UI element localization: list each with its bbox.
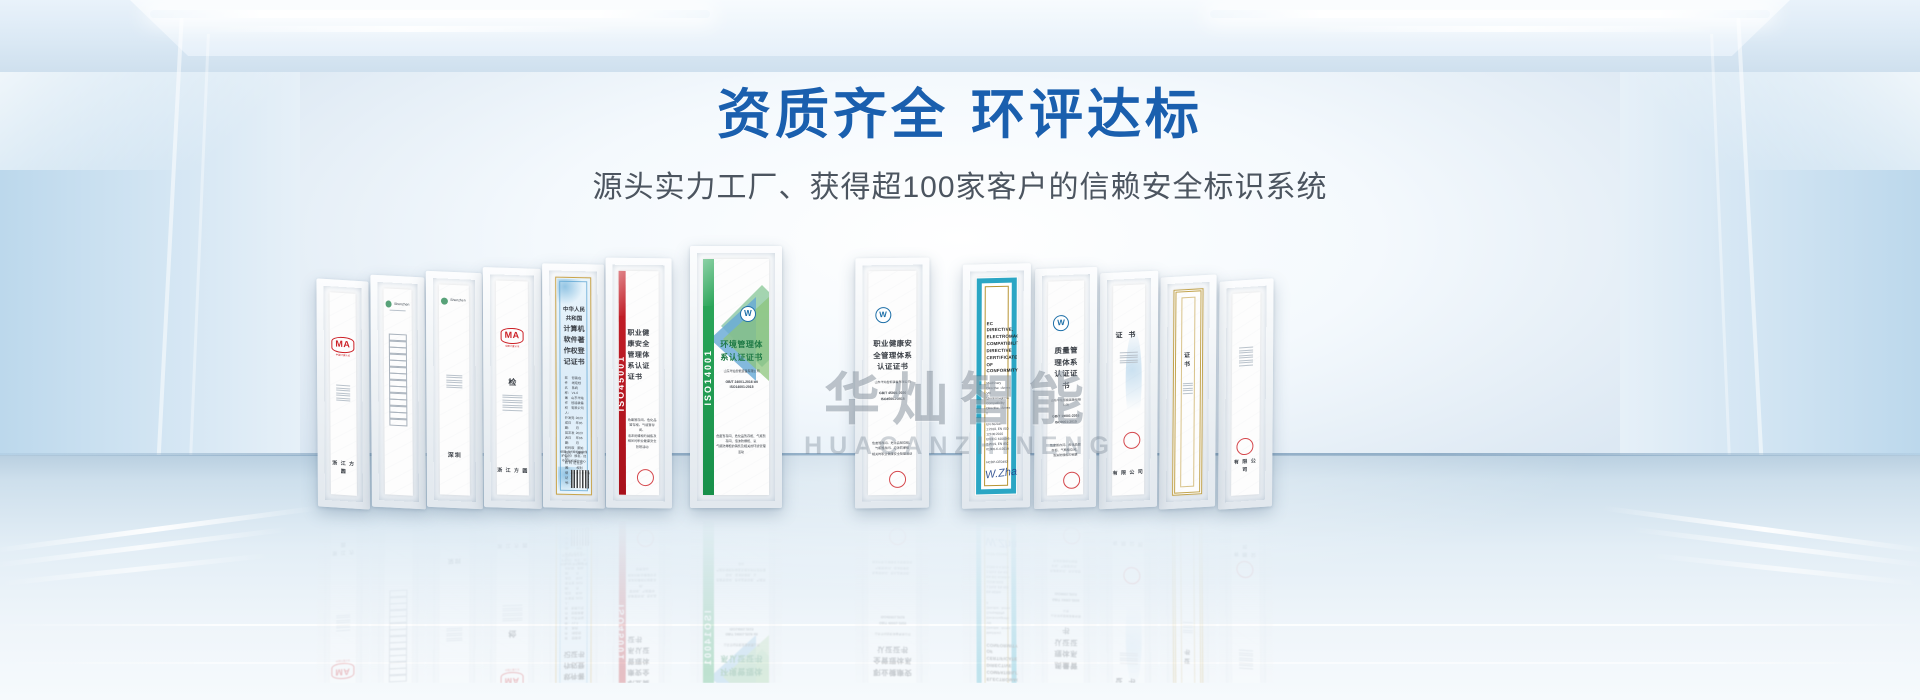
page-title-part-2: 环评达标: [971, 85, 1203, 145]
document-scope: 危废暂存间、危化品暂存柜、气瓶暂存间、泡沫防爆柜相关的职业健康安全管理活动: [871, 559, 912, 575]
certificate-document: Shenzhen: [383, 288, 412, 495]
company-name: 山东华灿智能装备有限公司: [1050, 608, 1081, 618]
document-body: 职业健康安全管理体系认证证书 山东华灿智能装备有限公司 GB/T 45001-2…: [872, 338, 913, 402]
document-body: 检: [498, 603, 526, 639]
document-footer: 浙 江 方 圆: [331, 538, 357, 555]
document-rule-line: [502, 615, 522, 617]
certificate-mat: Shenzhen 深圳: [433, 514, 476, 683]
certificate-frame[interactable]: W 质量管理体系认证证书 山东华灿智能装备有限公司 GB/T 19001-201…: [1034, 267, 1097, 509]
document-body: [442, 373, 466, 391]
document-body: 证 书: [1179, 352, 1197, 396]
document-field-value: 2023年06月: [576, 570, 584, 585]
standard-reference: GB/T 24001-2016 idt ISO14001:2015: [718, 380, 766, 391]
certificate-document: 中华人民共和国 计算机软件著作权登记证书 软 件 名 称： 智能在线巡检系统 V…: [555, 521, 592, 683]
certificate-frame: 有 限 公 司: [1218, 508, 1274, 683]
document-body: [442, 626, 466, 644]
certificate-document: MA 中国计量认证 浙 江 方 圆: [329, 520, 356, 683]
document-rule-line: [446, 635, 462, 637]
document-rule-line: [1239, 668, 1253, 670]
issuer-logo-icon: [386, 301, 392, 308]
certificate-frame: 证 书: [1159, 508, 1217, 683]
document-annex-2: Electromagnetic Compatibility Directive …: [986, 600, 1011, 620]
document-rule-line: [1183, 632, 1192, 634]
certificate-frame[interactable]: 证 书 有 限 公 司: [1099, 271, 1158, 510]
company-name: 山东华灿智能装备有限公司: [872, 379, 913, 384]
certificate-document: MA 中国计量认证 检 浙 江 方 圆: [496, 280, 529, 495]
document-rule-line: [446, 387, 462, 389]
official-stamp-icon: [1123, 431, 1140, 449]
document-title-line-3: CERTIFICATE OF CONFORMITY: [986, 354, 1011, 375]
standard-reference: GB/T 45001-2020 ISO45001:2018: [872, 391, 913, 402]
certificate-mat: 中华人民共和国 计算机软件著作权登记证书 软 件 名 称： 智能在线巡检系统 V…: [549, 514, 598, 683]
document-rule-line: [336, 387, 351, 389]
issuer-name: Shenzhen: [394, 302, 409, 308]
certificate-wall: MA 中国计量认证 浙 江 方 圆 Shenzhen: [0, 228, 1920, 508]
document-body: 职业健康安全管理体系认证证书: [627, 632, 656, 683]
document-rule-line: [1183, 392, 1192, 394]
certificate-document: ISO14001 W 环境管理体系认证证书 山东华灿智能装备有限公司 GB/T …: [703, 521, 769, 683]
certificate-mat: W 职业健康安全管理体系认证证书 山东华灿智能装备有限公司 GB/T 45001…: [862, 265, 922, 502]
ceiling-notch-left: [200, 26, 620, 32]
document-body: 职业健康安全管理体系认证证书: [627, 329, 656, 384]
certificate-mat: W 职业健康安全管理体系认证证书 山东华灿智能装备有限公司 GB/T 45001…: [862, 515, 922, 683]
certificate-mat: Shenzhen: [377, 514, 419, 683]
document-rule-line: [446, 640, 462, 642]
document-rule-line: [446, 384, 462, 386]
document-rule-line: [502, 607, 522, 609]
ma-badge-label: MA: [331, 662, 354, 679]
certificate-frame[interactable]: Shenzhen 深圳: [426, 271, 483, 509]
certificate-document: 证 书 有 限 公 司: [1112, 284, 1145, 496]
certificate-document: Shenzhen: [383, 520, 412, 683]
ma-badge-sublabel: 中国计量认证: [501, 345, 524, 349]
document-footer: 有 限 公 司: [1112, 470, 1144, 479]
certificate-spine: ISO45001: [619, 271, 626, 495]
document-rule-line: [336, 390, 351, 392]
certificate-frame[interactable]: Shenzhen: [370, 275, 426, 510]
document-field-row: 软 件 名 称： 智能在线巡检系统 V1.0: [561, 376, 588, 396]
document-rule-line: [1119, 362, 1138, 364]
issuer-logo-icon: [441, 297, 448, 304]
document-rule-line: [446, 627, 462, 629]
document-title: 环境管理体系认证证书: [718, 339, 766, 364]
certificate-mat: W 质量管理体系认证证书 山东华灿智能装备有限公司 GB/T 19001-201…: [1041, 514, 1090, 683]
company-name: 山东华灿智能装备有限公司: [718, 369, 766, 374]
certificate-document: EC DIRECTIVE, ELECTROMAGNETIC COMPATIBIL…: [975, 276, 1018, 495]
ma-badge-sublabel: 中国计量认证: [331, 657, 354, 662]
certificate-document: EC DIRECTIVE, ELECTROMAGNETIC COMPATIBIL…: [975, 520, 1018, 683]
document-rule-line: [446, 382, 462, 384]
document-body: [332, 612, 355, 632]
document-footer: 浙 江 方 圆: [331, 461, 357, 478]
document-body: [1235, 345, 1258, 368]
document-field-value: 2023年05月: [576, 585, 584, 600]
document-rule-line: [502, 394, 522, 396]
certificate-document: Shenzhen 深圳: [439, 520, 470, 683]
certificate-document: W 质量管理体系认证证书 山东华灿智能装备有限公司 GB/T 19001-201…: [1047, 520, 1084, 683]
certificate-document: 中华人民共和国 计算机软件著作权登记证书 软 件 名 称： 智能在线巡检系统 V…: [555, 277, 592, 496]
document-rule-line: [336, 392, 351, 394]
certificate-document: MA 中国计量认证 检 浙 江 方 圆: [496, 520, 529, 683]
document-field-value: 2023年05月: [576, 416, 584, 431]
standard-reference: GB/T 45001-2020 ISO45001:2018: [872, 614, 913, 625]
document-body: 证 书: [1179, 620, 1197, 664]
certificate-mat: ISO14001 W 环境管理体系认证证书 山东华灿智能装备有限公司 GB/T …: [697, 515, 775, 683]
document-footer: 有 限 公 司: [1231, 540, 1259, 557]
document-field-row: 开发完成日期： 2023年05月: [561, 416, 588, 431]
company-name: 山东华灿智能装备有限公司: [1050, 398, 1081, 408]
document-title: 质量管理体系认证证书: [1050, 345, 1081, 392]
document-title: 职业健康安全管理体系认证证书: [627, 632, 656, 683]
page-title-part-1: 资质齐全: [717, 85, 949, 145]
document-scope: 危废暂存间、危化品暂存柜、气瓶暂存间、泡沫防爆柜相关的职业健康安全管理活动: [871, 441, 912, 457]
standard-reference: GB/T 19001-2016 ISO9001:2015: [1050, 414, 1081, 426]
document-title: 职业健康安全管理体系认证证书: [872, 338, 913, 373]
document-scope: 危废暂存间、危化品暂存柜、气瓶暂存间、泡沫防爆柜、氢气瓶防爆柜的销售及相关的环境…: [716, 561, 766, 582]
document-body: 证 书: [1115, 651, 1142, 683]
document-rule-line: [502, 402, 522, 404]
inspection-table: [389, 590, 408, 682]
document-field-row: 著 作 权 人： 山东华灿智能装备有限公司: [561, 600, 588, 620]
certificate-frame: EC DIRECTIVE, ELECTROMAGNETIC COMPATIBIL…: [962, 508, 1031, 683]
ma-badge-label: MA: [501, 672, 524, 683]
certificate-frame: ISO45001 职业健康安全管理体系认证证书 危废暂存间、危化品暂存柜、气瓶暂…: [606, 508, 672, 683]
certificate-mat: Shenzhen 深圳: [433, 278, 476, 502]
certificate-document: 证 书: [1172, 288, 1203, 496]
document-field-label: 软 件 名 称：: [565, 620, 572, 640]
document-footer: 深圳: [440, 554, 470, 565]
document-rule-line: [446, 632, 462, 634]
certificate-frame[interactable]: 证 书: [1159, 274, 1217, 509]
document-title: 质量管理体系认证证书: [1050, 624, 1081, 671]
certificate-frame: W 职业健康安全管理体系认证证书 山东华灿智能装备有限公司 GB/T 45001…: [855, 508, 929, 683]
document-footer: 浙 江 方 圆: [497, 467, 529, 476]
certificate-document: ISO14001 W 环境管理体系认证证书 山东华灿智能装备有限公司 GB/T …: [703, 259, 769, 495]
issuer-line: Shenzhen: [386, 301, 410, 309]
certificate-mat: 有 限 公 司: [1225, 514, 1267, 683]
certificate-document: W 质量管理体系认证证书 山东华灿智能装备有限公司 GB/T 19001-201…: [1047, 280, 1084, 495]
document-header: Shenzhen: [386, 301, 410, 313]
document-field-label: 首次发表日期：: [565, 431, 576, 446]
document-title: 职业健康安全管理体系认证证书: [872, 643, 913, 678]
document-rule-line: [1239, 364, 1253, 366]
document-field-value: 山东华灿智能装备有限公司: [571, 600, 584, 620]
document-rule-line: [502, 399, 522, 401]
certificate-mat: ISO14001 W 环境管理体系认证证书 山东华灿智能装备有限公司 GB/T …: [697, 253, 775, 501]
document-rule-line: [1119, 658, 1138, 660]
certificate-frame: W 质量管理体系认证证书 山东华灿智能装备有限公司 GB/T 19001-201…: [1034, 508, 1097, 683]
certificate-mat: 证 书 有 限 公 司: [1106, 278, 1151, 502]
document-title: 环境管理体系认证证书: [718, 652, 766, 677]
qr-code-icon: [570, 469, 588, 487]
document-title: EC DIRECTIVE,: [987, 320, 1012, 334]
standard-reference: GB/T 19001-2016 ISO9001:2015: [1050, 591, 1081, 603]
document-rule-line: [1183, 630, 1192, 632]
document-subtitle: 计算机软件著作权登记证书: [560, 647, 587, 683]
table-row: [389, 418, 407, 426]
certificate-frame: Shenzhen: [370, 508, 426, 683]
document-body: 质量管理体系认证证书 山东华灿智能装备有限公司 GB/T 19001-2016 …: [1050, 591, 1081, 672]
certification-body-icon: W: [875, 307, 891, 323]
document-field-value: 智能在线巡检系统 V1.0: [572, 619, 584, 639]
certificate-frame[interactable]: 有 限 公 司: [1218, 278, 1274, 510]
certificate-spine: ISO45001: [619, 521, 626, 683]
document-rule-line: [1119, 663, 1138, 665]
certificate-frame[interactable]: EC DIRECTIVE, ELECTROMAGNETIC COMPATIBIL…: [962, 263, 1031, 509]
ma-badge-label: MA: [331, 337, 354, 354]
document-rule-line: [1183, 387, 1192, 389]
document-subtitle: 计算机软件著作权登记证书: [560, 325, 587, 369]
spine-label: ISO14001: [703, 349, 716, 406]
document-rule-line: [446, 630, 462, 632]
certificate-frame: Shenzhen 深圳: [426, 508, 483, 683]
document-body: 质量管理体系认证证书 山东华灿智能装备有限公司 GB/T 19001-2016 …: [1050, 345, 1081, 426]
paper-watermark-pattern: [439, 520, 470, 683]
document-annex-1: Machinery Directive : Annex VIII: [986, 620, 1011, 635]
inspection-table: [389, 334, 408, 426]
certificate-mat: 中华人民共和国 计算机软件著作权登记证书 软 件 名 称： 智能在线巡检系统 V…: [549, 270, 598, 501]
document-rule-line: [502, 407, 522, 409]
document-body: 检: [498, 377, 526, 413]
certificate-document: 证 书: [1172, 520, 1203, 683]
certificate-document: MA 中国计量认证 浙 江 方 圆: [329, 292, 356, 496]
certificate-frame[interactable]: 中华人民共和国 计算机软件著作权登记证书 软 件 名 称： 智能在线巡检系统 V…: [542, 263, 605, 508]
document-field-row: 首次发表日期： 2023年06月: [561, 431, 588, 446]
certificate-document: ISO45001 职业健康安全管理体系认证证书 危废暂存间、危化品暂存柜、气瓶暂…: [619, 521, 659, 683]
headline-block: 资质齐全环评达标 源头实力工厂、获得超100家客户的信赖安全标识系统: [0, 86, 1920, 206]
certificate-mat: MA 中国计量认证 检 浙 江 方 圆: [490, 514, 535, 683]
certificate-wall-reflection: MA 中国计量认证 浙 江 方 圆 Shenzhen: [0, 508, 1920, 683]
standard-reference: GB/T 24001-2016 idt ISO14001:2015: [718, 626, 766, 637]
document-standards: EN 60204-1:2018, EN ISO 12100:2010 EN IE…: [986, 564, 1011, 594]
ceiling-light-strip-right: [1210, 10, 1770, 18]
certificate-document: Shenzhen 深圳: [439, 284, 470, 495]
document-rule-line: [1183, 390, 1192, 392]
document-scope: 危废暂存间、危化品暂存柜、气瓶暂存间、泡沫防爆柜的销售及相关的职业健康安全管理活…: [628, 417, 657, 450]
ceiling-light-strip-left: [150, 10, 710, 18]
document-footer: 依据《计算机软件保护条例》 颁发，经中国版权保护中心: [560, 450, 587, 464]
document-rule-line: [446, 637, 462, 639]
document-field-row: 软 件 名 称： 智能在线巡检系统 V1.0: [561, 619, 588, 639]
certificate-mat: EC DIRECTIVE, ELECTROMAGNETIC COMPATIBIL…: [969, 270, 1024, 501]
document-title: 中华人民共和国: [560, 306, 587, 324]
document-body: [332, 383, 355, 403]
document-title-line-2: ELECTROMAGNETIC COMPATIBILITY DIRECTIVE: [987, 334, 1012, 355]
document-rule-line: [1183, 382, 1192, 384]
certificate-document: 证 书 有 限 公 司: [1112, 520, 1145, 683]
certificate-mat: 证 书: [1166, 514, 1210, 683]
certificate-frame: 证 书 有 限 公 司: [1099, 508, 1158, 683]
ma-certification-icon: MA 中国计量认证: [331, 337, 354, 359]
document-title-line-2: ELECTROMAGNETIC COMPATIBILITY DIRECTIVE: [987, 661, 1012, 682]
ma-certification-icon: MA 中国计量认证: [501, 667, 524, 683]
document-field-value: 2023年06月: [576, 431, 584, 446]
document-title: 证 书: [1115, 331, 1142, 343]
document-body: [1235, 648, 1258, 671]
document-rule-line: [1119, 653, 1138, 655]
document-body: 环境管理体系认证证书 山东华灿智能装备有限公司 GB/T 24001-2016 …: [718, 626, 766, 677]
certificate-frame[interactable]: MA 中国计量认证 浙 江 方 圆: [316, 278, 370, 509]
document-rule-line: [446, 374, 462, 376]
certificate-frame: 中华人民共和国 计算机软件著作权登记证书 软 件 名 称： 智能在线巡检系统 V…: [542, 508, 605, 683]
document-rule-line: [502, 605, 522, 607]
document-standards: EN 60204-1:2018, EN ISO 12100:2010 EN IE…: [986, 422, 1011, 452]
document-rule-line: [1183, 385, 1192, 387]
spine-label: ISO14001: [703, 611, 716, 668]
document-rule-line: [336, 397, 351, 399]
ma-certification-icon: MA 中国计量认证: [331, 657, 354, 679]
certificate-document: W 职业健康安全管理体系认证证书 山东华灿智能装备有限公司 GB/T 45001…: [868, 271, 916, 496]
certificate-mat: MA 中国计量认证 检 浙 江 方 圆: [490, 274, 535, 501]
document-rule-line: [336, 629, 351, 631]
document-title-line-3: CERTIFICATE OF CONFORMITY: [986, 641, 1011, 662]
document-title: 检: [498, 626, 526, 639]
document-rule-line: [502, 404, 522, 406]
document-header: Shenzhen: [441, 297, 466, 305]
certificate-frame: MA 中国计量认证 检 浙 江 方 圆: [483, 508, 542, 683]
document-body: 环境管理体系认证证书 山东华灿智能装备有限公司 GB/T 24001-2016 …: [718, 339, 766, 390]
qr-code-icon: [570, 528, 588, 546]
document-scope: 危废暂存间、危化品暂存柜、气瓶暂存间、泡沫防爆柜的销售: [1050, 557, 1081, 574]
document-rule-line: [502, 397, 522, 399]
ma-certification-icon: MA 中国计量认证: [501, 328, 524, 349]
document-title: 证 书: [1179, 645, 1196, 665]
certificate-frame: MA 中国计量认证 浙 江 方 圆: [316, 508, 370, 683]
company-name: 山东华灿智能装备有限公司: [718, 642, 766, 647]
certificate-mat: MA 中国计量认证 浙 江 方 圆: [323, 514, 363, 683]
certificate-frame[interactable]: ISO14001 W 环境管理体系认证证书 山东华灿智能装备有限公司 GB/T …: [690, 246, 782, 508]
document-body: EC DIRECTIVE, ELECTROMAGNETIC COMPATIBIL…: [986, 320, 1012, 465]
document-rule-line: [502, 612, 522, 614]
document-field-label: 开发完成日期：: [565, 416, 576, 431]
certificate-document: 有 限 公 司: [1231, 520, 1260, 683]
document-rule-line: [502, 610, 522, 612]
certificate-frame[interactable]: MA 中国计量认证 检 浙 江 方 圆: [483, 267, 542, 509]
certificate-document: ISO45001 职业健康安全管理体系认证证书 危废暂存间、危化品暂存柜、气瓶暂…: [619, 271, 659, 495]
certificate-mat: MA 中国计量认证 浙 江 方 圆: [323, 286, 363, 502]
certificate-mat: 有 限 公 司: [1225, 286, 1267, 503]
document-rule-line: [446, 377, 462, 379]
certificate-frame[interactable]: W 职业健康安全管理体系认证证书 山东华灿智能装备有限公司 GB/T 45001…: [855, 258, 929, 509]
document-field-label: 软 件 名 称：: [565, 376, 572, 396]
certificate-mat: W 质量管理体系认证证书 山东华灿智能装备有限公司 GB/T 19001-201…: [1041, 274, 1090, 502]
document-field-row: 开发完成日期： 2023年05月: [561, 585, 588, 600]
document-scope: 危废暂存间、危化品暂存柜、气瓶暂存间、泡沫防爆柜的销售: [1050, 442, 1081, 459]
document-field-label: 开发完成日期：: [565, 585, 576, 600]
ma-badge-label: MA: [501, 328, 524, 345]
certificate-mat: ISO45001 职业健康安全管理体系认证证书 危废暂存间、危化品暂存柜、气瓶暂…: [613, 265, 665, 502]
document-rule-line: [1183, 627, 1192, 629]
certificate-document: 有 限 公 司: [1231, 292, 1260, 496]
table-row: [389, 590, 407, 598]
document-rule-line: [336, 385, 351, 387]
document-title: 证 书: [1179, 352, 1196, 372]
document-title: 证 书: [1115, 673, 1142, 683]
document-field-row: 首次发表日期： 2023年06月: [561, 570, 588, 585]
certificate-spine: ISO14001: [703, 259, 714, 495]
certificate-mat: Shenzhen: [377, 282, 419, 502]
document-body: 职业健康安全管理体系认证证书 山东华灿智能装备有限公司 GB/T 45001-2…: [872, 614, 913, 678]
document-rule-line: [1119, 660, 1138, 662]
document-body: 证 书: [1115, 331, 1142, 366]
document-rule-line: [502, 620, 522, 622]
certificate-mat: 证 书: [1166, 282, 1210, 502]
document-reference-number: HCDP-CE0492: [986, 551, 1011, 557]
official-stamp-icon: [889, 528, 906, 545]
ornament-icon: [557, 279, 583, 306]
document-body: EC DIRECTIVE, ELECTROMAGNETIC COMPATIBIL…: [986, 551, 1012, 683]
ma-badge-sublabel: 中国计量认证: [501, 667, 524, 671]
document-rule-line: [502, 617, 522, 619]
certificate-frame[interactable]: ISO45001 职业健康安全管理体系认证证书 危废暂存间、危化品暂存柜、气瓶暂…: [606, 258, 672, 509]
document-footer: 深圳: [440, 451, 470, 462]
document-footer: 有 限 公 司: [1231, 458, 1259, 475]
company-name: 山东华灿智能装备有限公司: [872, 632, 913, 637]
document-rule-line: [336, 400, 351, 402]
document-scope: 危废暂存间、危化品暂存柜、气瓶暂存间、泡沫防爆柜、氢气瓶防爆柜的销售及相关的环境…: [716, 434, 766, 455]
document-field-row: 著 作 权 人： 山东华灿智能装备有限公司: [561, 396, 588, 416]
certificate-document: W 职业健康安全管理体系认证证书 山东华灿智能装备有限公司 GB/T 45001…: [868, 521, 916, 683]
official-stamp-icon: [1063, 471, 1080, 489]
document-footer: 有 限 公 司: [1112, 537, 1144, 546]
ceiling-notch-right: [1300, 26, 1720, 32]
document-field-label: 首次发表日期：: [565, 570, 576, 585]
issuer-name: Shenzhen: [450, 298, 465, 304]
page-title: 资质齐全环评达标: [0, 86, 1920, 144]
certificate-mat: EC DIRECTIVE, ELECTROMAGNETIC COMPATIBIL…: [969, 514, 1024, 683]
certificate-mat: ISO45001 职业健康安全管理体系认证证书 危废暂存间、危化品暂存柜、气瓶暂…: [613, 515, 665, 683]
document-annex-1: Machinery Directive : Annex VIII: [986, 381, 1011, 396]
document-title: 职业健康安全管理体系认证证书: [627, 329, 656, 384]
certificate-mat: 证 书 有 限 公 司: [1106, 514, 1151, 683]
document-footer: 依据《计算机软件保护条例》 颁发，经中国版权保护中心: [560, 552, 587, 566]
document-footer: 浙 江 方 圆: [497, 540, 529, 549]
certificate-banner: 资质齐全环评达标 源头实力工厂、获得超100家客户的信赖安全标识系统 MA 中国…: [0, 0, 1920, 700]
document-rule-line: [1119, 655, 1138, 657]
document-fields: 软 件 名 称： 智能在线巡检系统 V1.0 著 作 权 人： 山东华灿智能装备…: [561, 530, 589, 640]
certificate-frame: ISO14001 W 环境管理体系认证证书 山东华灿智能装备有限公司 GB/T …: [690, 508, 782, 683]
certificate-spine: ISO14001: [703, 521, 714, 683]
document-title: 检: [498, 377, 526, 390]
page-subtitle: 源头实力工厂、获得超100家客户的信赖安全标识系统: [0, 162, 1920, 206]
document-rule-line: [1183, 625, 1192, 627]
document-rule-line: [1183, 622, 1192, 624]
document-field-value: 智能在线巡检系统 V1.0: [572, 376, 584, 396]
document-rule-line: [446, 379, 462, 381]
document-rule-line: [502, 409, 522, 411]
document-field-value: 山东华灿智能装备有限公司: [571, 396, 584, 416]
document-annex-2: Electromagnetic Compatibility Directive …: [986, 396, 1011, 416]
document-scope: 危废暂存间、危化品暂存柜、气瓶暂存间、泡沫防爆柜的销售及相关的职业健康安全管理活…: [628, 566, 657, 599]
document-rule-line: [336, 395, 351, 397]
